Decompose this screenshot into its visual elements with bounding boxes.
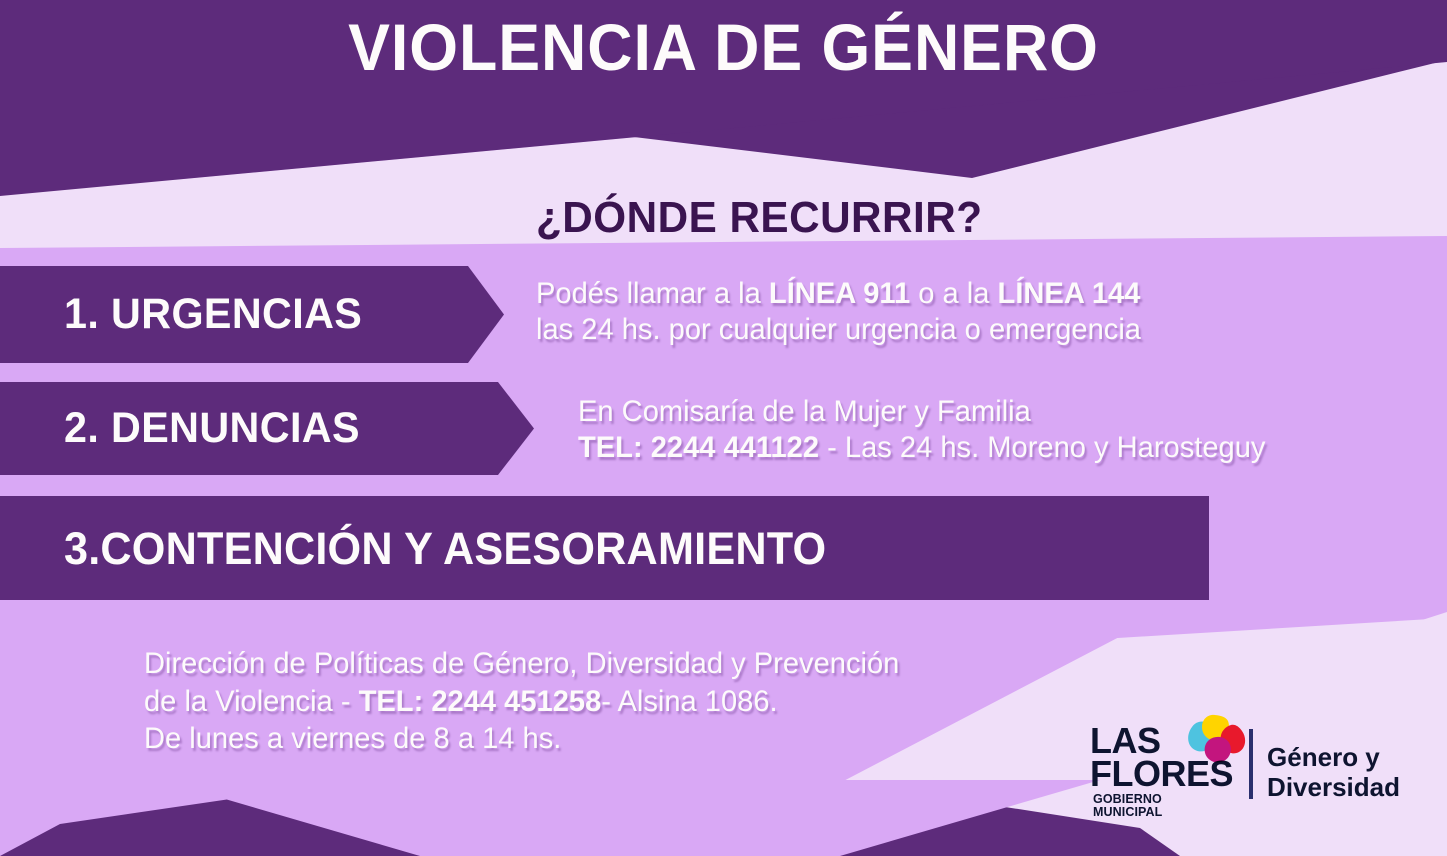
logo-wordmark: LAS FLORES GOBIERNO MUNICIPAL: [1090, 709, 1233, 813]
text-line: TEL: 2244 441122 - Las 24 hs. Moreno y H…: [578, 430, 1265, 466]
body-text: las 24 hs. por cualquier urgencia o emer…: [536, 313, 1141, 346]
body-text: Podés llamar a la: [536, 277, 769, 310]
body-text: o a la: [910, 277, 997, 310]
subtitle-donde-recurrir: ¿DÓNDE RECURRIR?: [536, 196, 983, 240]
body-text: Dirección de Políticas de Género, Divers…: [144, 647, 899, 680]
emphasis-text: TEL: 2244 441122: [578, 431, 819, 464]
body-text: En Comisaría de la Mujer y Familia: [578, 395, 1031, 428]
text-line: Dirección de Políticas de Género, Divers…: [144, 645, 899, 683]
flower-icon: [1186, 711, 1248, 766]
emphasis-text: TEL: 2244 451258: [359, 685, 602, 718]
poster-canvas: VIOLENCIA DE GÉNERO ¿DÓNDE RECURRIR? 1. …: [0, 0, 1447, 856]
text-line: De lunes a viernes de 8 a 14 hs.: [144, 720, 899, 758]
las-flores-logo: LAS FLORES GOBIERNO MUNICIPAL Género y D…: [1090, 709, 1400, 813]
text-line: las 24 hs. por cualquier urgencia o emer…: [536, 312, 1141, 348]
flower-petal-magenta: [1205, 737, 1231, 763]
section-bar-denuncias: 2. DENUNCIAS: [0, 382, 534, 475]
text-line: Podés llamar a la LÍNEA 911 o a la LÍNEA…: [536, 276, 1141, 312]
section-detail-denuncias: En Comisaría de la Mujer y FamiliaTEL: 2…: [578, 394, 1265, 466]
body-text: - Las 24 hs. Moreno y Harosteguy: [819, 431, 1265, 464]
section-label-contencion: 3.CONTENCIÓN Y ASESORAMIENTO: [64, 526, 826, 571]
text-line: de la Violencia - TEL: 2244 451258- Alsi…: [144, 683, 899, 721]
logo-tagline: GOBIERNO MUNICIPAL: [1093, 793, 1233, 818]
footer-contact-block: Dirección de Políticas de Género, Divers…: [144, 645, 899, 758]
body-text: - Alsina 1086.: [601, 685, 777, 718]
logo-divider: [1249, 729, 1253, 799]
section-detail-urgencias: Podés llamar a la LÍNEA 911 o a la LÍNEA…: [536, 276, 1141, 348]
section-bar-contencion: 3.CONTENCIÓN Y ASESORAMIENTO: [0, 496, 1209, 600]
text-line: En Comisaría de la Mujer y Familia: [578, 394, 1265, 430]
section-label-urgencias: 1. URGENCIAS: [64, 293, 362, 336]
logo-dept-line2: Diversidad: [1267, 772, 1400, 803]
body-text: de la Violencia -: [144, 685, 359, 718]
logo-dept-line1: Género y: [1267, 742, 1400, 773]
logo-department: Género y Diversidad: [1267, 742, 1400, 813]
emphasis-text: LÍNEA 911: [769, 277, 910, 310]
body-text: De lunes a viernes de 8 a 14 hs.: [144, 722, 561, 755]
section-bar-urgencias: 1. URGENCIAS: [0, 266, 504, 363]
page-title: VIOLENCIA DE GÉNERO: [36, 14, 1411, 80]
emphasis-text: LÍNEA 144: [998, 277, 1141, 310]
section-label-denuncias: 2. DENUNCIAS: [64, 407, 360, 450]
